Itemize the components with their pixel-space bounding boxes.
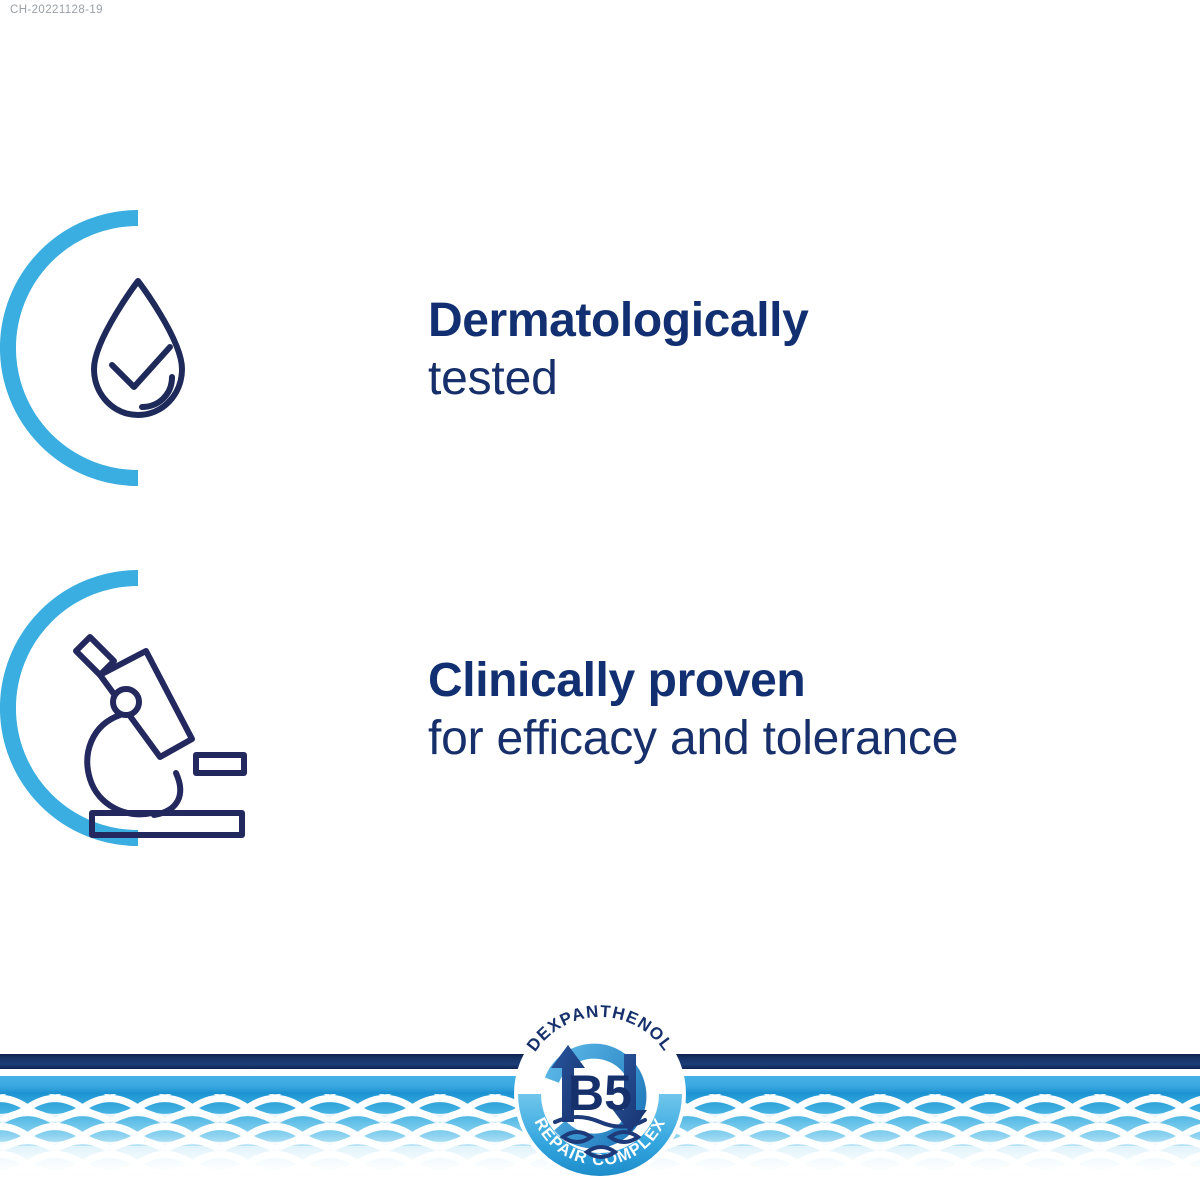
claim-dermatologically-tested: Dermatologically tested [0, 205, 808, 495]
reference-code: CH-20221128-19 [10, 4, 103, 16]
claim-1-text: Dermatologically tested [428, 296, 808, 404]
b5-repair-complex-badge: DEXPANTHENOL REPAIR COMPLEX B5 [507, 998, 693, 1179]
claim-2-subline: for efficacy and tolerance [428, 714, 958, 764]
claim-clinically-proven: Clinically proven for efficacy and toler… [0, 565, 958, 855]
claim-1-subline: tested [428, 354, 808, 404]
claim-2-text: Clinically proven for efficacy and toler… [428, 656, 958, 764]
microscope-icon [0, 565, 340, 855]
claim-2-icon-group [0, 565, 340, 855]
droplet-check-icon [0, 205, 340, 495]
claim-1-headline: Dermatologically [428, 296, 808, 346]
badge-center-text: B5 [568, 1065, 632, 1121]
promotional-panel: CH-20221128-19 Dermatologically tested [0, 0, 1200, 1179]
claim-1-icon-group [0, 205, 340, 495]
claim-2-headline: Clinically proven [428, 656, 958, 706]
badge-svg: DEXPANTHENOL REPAIR COMPLEX B5 [507, 998, 693, 1179]
